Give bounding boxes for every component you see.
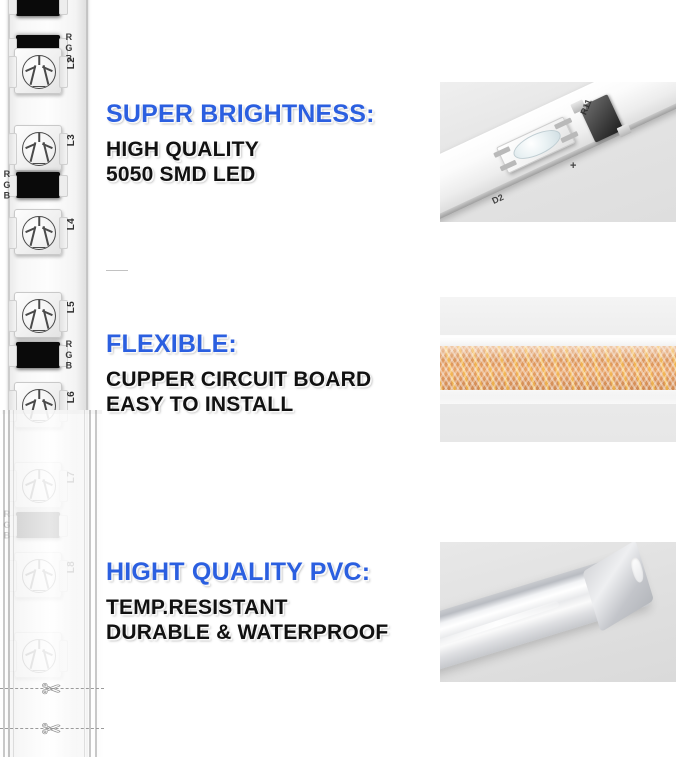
led-label: L5 <box>66 301 77 313</box>
feature-line: HIGH QUALITY <box>106 138 436 163</box>
feature-heading: HIGHT QUALITY PVC: <box>106 558 436 587</box>
tube-highlight <box>440 336 676 346</box>
infographic-page: RGB L2 L3 RGB L4 <box>0 0 679 757</box>
feature-block-flexible: FLEXIBLE: CUPPER CIRCUIT BOARD EASY TO I… <box>106 330 436 417</box>
feature-block-pvc: HIGHT QUALITY PVC: TEMP.RESISTANT DURABL… <box>106 558 436 645</box>
strip-resistor <box>16 172 60 198</box>
feature-line: EASY TO INSTALL <box>106 393 436 418</box>
feature-line: DURABLE & WATERPROOF <box>106 621 436 646</box>
feature-line: TEMP.RESISTANT <box>106 596 436 621</box>
led-chip <box>14 125 62 171</box>
led-chip <box>14 48 62 94</box>
led-label: L3 <box>66 134 77 146</box>
led-chip <box>14 209 62 255</box>
led-strip-column: RGB L2 L3 RGB L4 <box>0 0 104 757</box>
scissors-icon: ✄ <box>36 715 66 743</box>
feature-line: 5050 SMD LED <box>106 163 436 188</box>
pvc-sleeve-cut-end-photo <box>440 542 676 682</box>
led-label: L6 <box>66 391 77 403</box>
strip-resistor <box>16 342 60 368</box>
led-chip-closeup-photo: R11 D2 + - <box>440 82 676 222</box>
led-lens-icon <box>22 55 56 89</box>
feature-block-brightness: SUPER BRIGHTNESS: HIGH QUALITY 5050 SMD … <box>106 100 436 187</box>
led-chip <box>14 292 62 338</box>
smd-pad <box>561 131 579 143</box>
smd-pad <box>554 117 572 129</box>
smd-pad <box>500 159 518 171</box>
feature-heading: SUPER BRIGHTNESS: <box>106 100 436 129</box>
copper-braid <box>440 346 676 390</box>
led-lens-icon <box>22 132 56 166</box>
feature-heading: FLEXIBLE: <box>106 330 436 359</box>
copper-highlight <box>440 346 676 363</box>
led-label: L4 <box>66 218 77 230</box>
feature-line: CUPPER CIRCUIT BOARD <box>106 368 436 393</box>
rgb-label: RGB <box>2 169 10 201</box>
led-label: L2 <box>66 57 77 69</box>
resistor-pad <box>8 0 17 15</box>
section-divider <box>106 270 128 271</box>
silkscreen-label-minus: - <box>590 220 594 222</box>
scissors-icon: ✄ <box>36 675 66 703</box>
cut-mark: ✄ <box>0 672 104 706</box>
copper-circuit-board-photo <box>440 297 676 442</box>
silkscreen-label-plus: + <box>570 160 576 172</box>
rgb-label: RGB <box>64 339 72 371</box>
strip-resistor-top <box>16 0 60 16</box>
led-lens-icon <box>22 299 56 333</box>
tube-highlight <box>440 390 676 403</box>
cut-mark: ✄ <box>0 712 104 746</box>
resistor-pad <box>59 175 68 197</box>
smd-pad <box>493 146 511 158</box>
resistor-pad <box>59 0 68 15</box>
led-lens-icon <box>22 216 56 250</box>
resistor-pad <box>8 345 17 367</box>
